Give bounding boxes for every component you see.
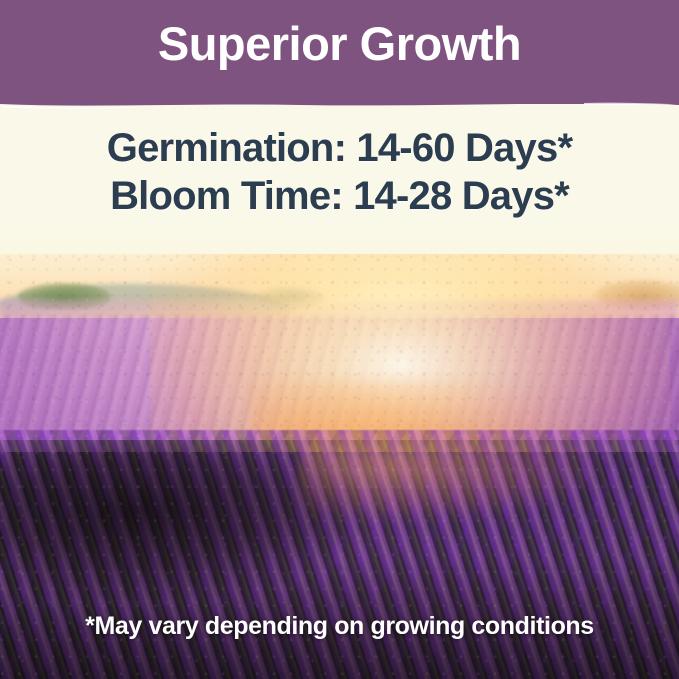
- product-infographic: Superior Growth Germination: 14-60 Days*…: [0, 0, 679, 679]
- disclaimer-caption: *May vary depending on growing condition…: [0, 612, 679, 641]
- growth-info-block: Germination: 14-60 Days* Bloom Time: 14-…: [0, 124, 679, 220]
- bloom-time-line: Bloom Time: 14-28 Days*: [0, 172, 679, 220]
- germination-line: Germination: 14-60 Days*: [0, 124, 679, 172]
- page-title: Superior Growth: [0, 16, 679, 71]
